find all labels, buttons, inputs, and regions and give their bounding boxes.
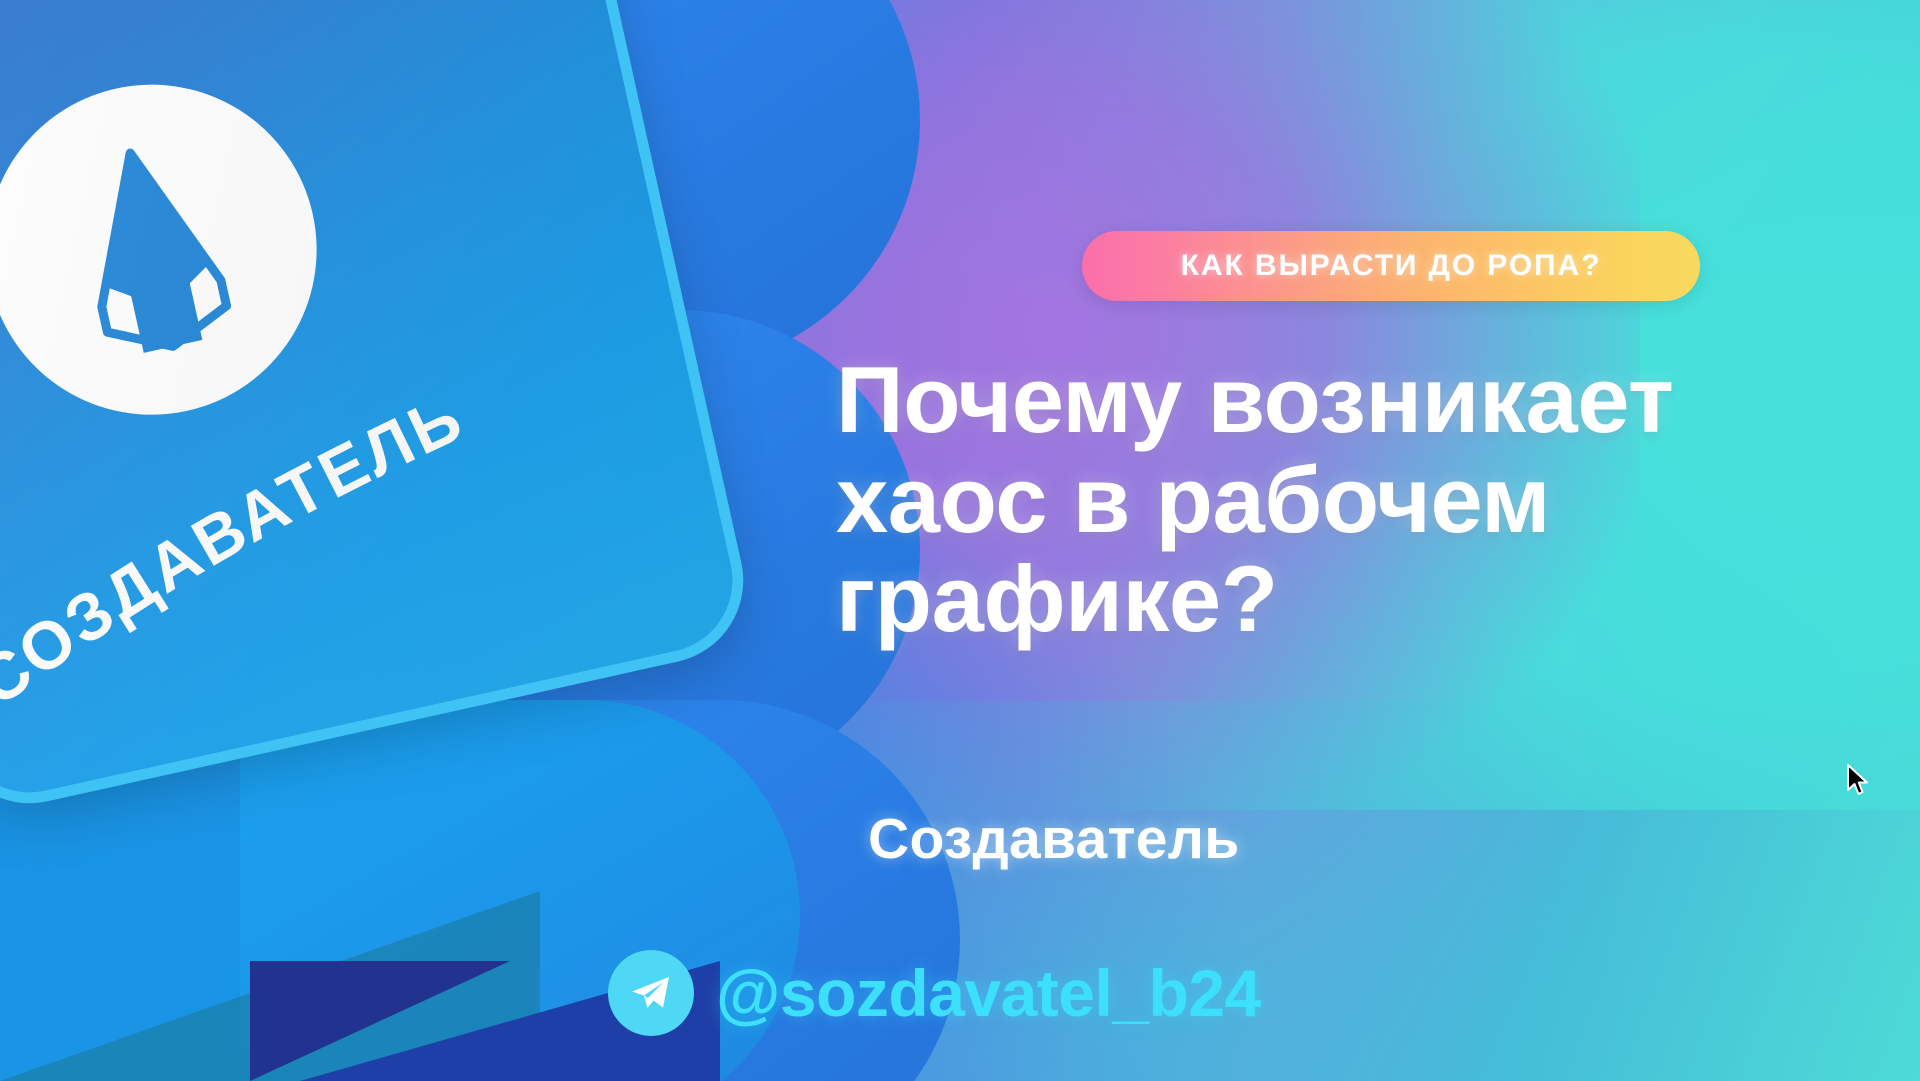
telegram-handle-row[interactable]: @sozdavatel_b24 — [608, 950, 1261, 1036]
page-title: Почему возникает хаос в рабочем графике? — [836, 350, 1846, 649]
telegram-icon[interactable] — [608, 950, 694, 1036]
content-column: КАК ВЫРАСТИ ДО РОПА? Почему возникает ха… — [0, 0, 1920, 1081]
topic-badge: КАК ВЫРАСТИ ДО РОПА? — [1082, 231, 1700, 301]
headline-line-2: хаос в рабочем — [836, 450, 1846, 550]
slide-canvas: СОЗДАВАТЕЛЬ КАК ВЫРАСТИ ДО РОПА? Почему … — [0, 0, 1920, 1081]
topic-badge-label: КАК ВЫРАСТИ ДО РОПА? — [1181, 249, 1602, 283]
brand-subtitle: Создаватель — [868, 806, 1240, 872]
headline-line-1: Почему возникает — [836, 350, 1846, 450]
telegram-handle-label[interactable]: @sozdavatel_b24 — [716, 955, 1261, 1031]
mouse-pointer-icon — [1846, 764, 1872, 798]
headline-line-3: графике? — [836, 549, 1846, 649]
